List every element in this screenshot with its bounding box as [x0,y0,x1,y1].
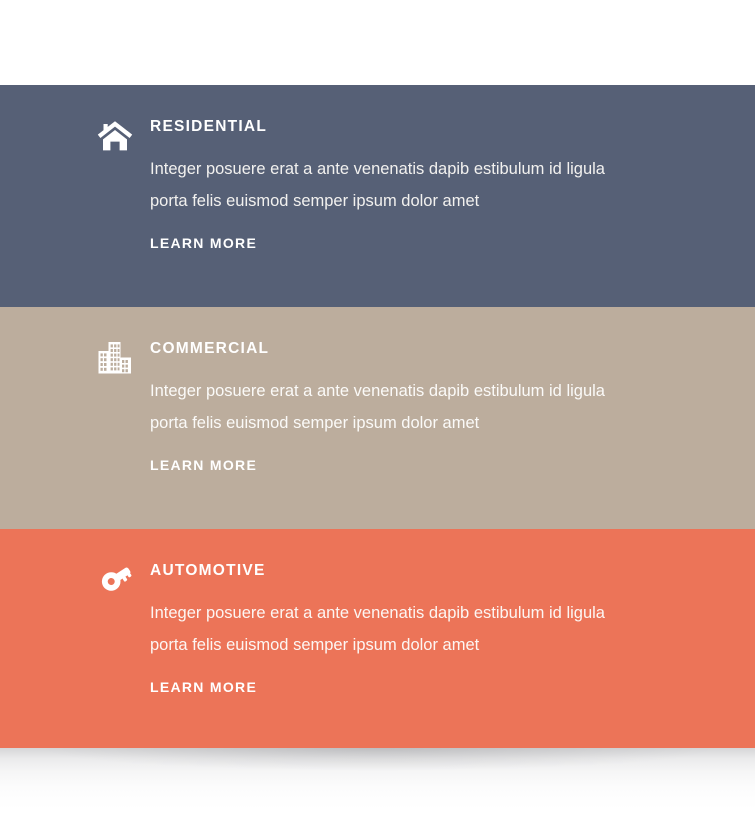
panel-title: RESIDENTIAL [150,115,690,137]
learn-more-link[interactable]: LEARN MORE [150,235,257,251]
panel-title: COMMERCIAL [150,337,690,359]
panel-commercial[interactable]: COMMERCIAL Integer posuere erat a ante v… [0,307,755,529]
panel-content-automotive: AUTOMOTIVE Integer posuere erat a ante v… [96,559,690,697]
learn-more-link[interactable]: LEARN MORE [150,457,257,473]
stack-drop-shadow [0,748,755,814]
panel-description: Integer posuere erat a ante venenatis da… [150,375,640,439]
panel-content-residential: RESIDENTIAL Integer posuere erat a ante … [96,115,690,253]
service-panel-stack: RESIDENTIAL Integer posuere erat a ante … [0,85,755,748]
panel-description: Integer posuere erat a ante venenatis da… [150,153,640,217]
key-icon [96,561,134,599]
panel-automotive[interactable]: AUTOMOTIVE Integer posuere erat a ante v… [0,529,755,748]
panel-title: AUTOMOTIVE [150,559,690,581]
home-icon [96,117,134,155]
panel-residential[interactable]: RESIDENTIAL Integer posuere erat a ante … [0,85,755,307]
page-root: RESIDENTIAL Integer posuere erat a ante … [0,0,755,814]
panel-content-commercial: COMMERCIAL Integer posuere erat a ante v… [96,337,690,475]
city-buildings-icon [96,339,134,377]
top-spacer [0,0,755,85]
learn-more-link[interactable]: LEARN MORE [150,679,257,695]
panel-description: Integer posuere erat a ante venenatis da… [150,597,640,661]
